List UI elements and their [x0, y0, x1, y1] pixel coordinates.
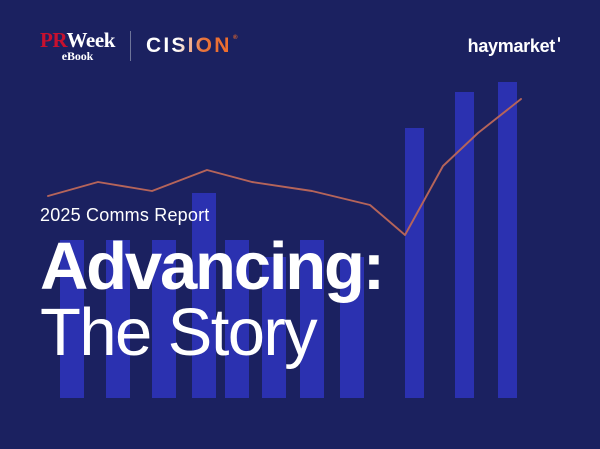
brand-lockup: PRWeek eBook CISION ®: [40, 30, 236, 62]
brand-divider: [130, 31, 131, 61]
haymarket-mark-icon: [558, 37, 560, 42]
prweek-ebook-text: eBook: [40, 51, 115, 62]
cover-headline-block: 2025 Comms Report Advancing: The Story: [40, 206, 383, 365]
chart-bar: [405, 128, 424, 398]
cover-title: Advancing:: [40, 236, 383, 298]
cover-header: PRWeek eBook CISION ® haymarket: [0, 0, 600, 92]
cision-logo[interactable]: CISION ®: [146, 34, 236, 58]
report-cover: PRWeek eBook CISION ® haymarket 2025 Com…: [0, 0, 600, 449]
cover-eyebrow: 2025 Comms Report: [40, 206, 383, 224]
chart-bar: [498, 82, 517, 398]
cision-trademark-icon: ®: [233, 35, 237, 41]
prweek-wordmark: PRWeek: [40, 31, 115, 51]
prweek-ebook-logo[interactable]: PRWeek eBook: [40, 30, 115, 62]
haymarket-logo[interactable]: haymarket: [468, 36, 560, 57]
cover-subtitle: The Story: [40, 300, 383, 366]
cision-wordmark: CISION: [146, 34, 232, 57]
haymarket-wordmark: haymarket: [468, 36, 555, 56]
chart-bar: [455, 92, 474, 398]
